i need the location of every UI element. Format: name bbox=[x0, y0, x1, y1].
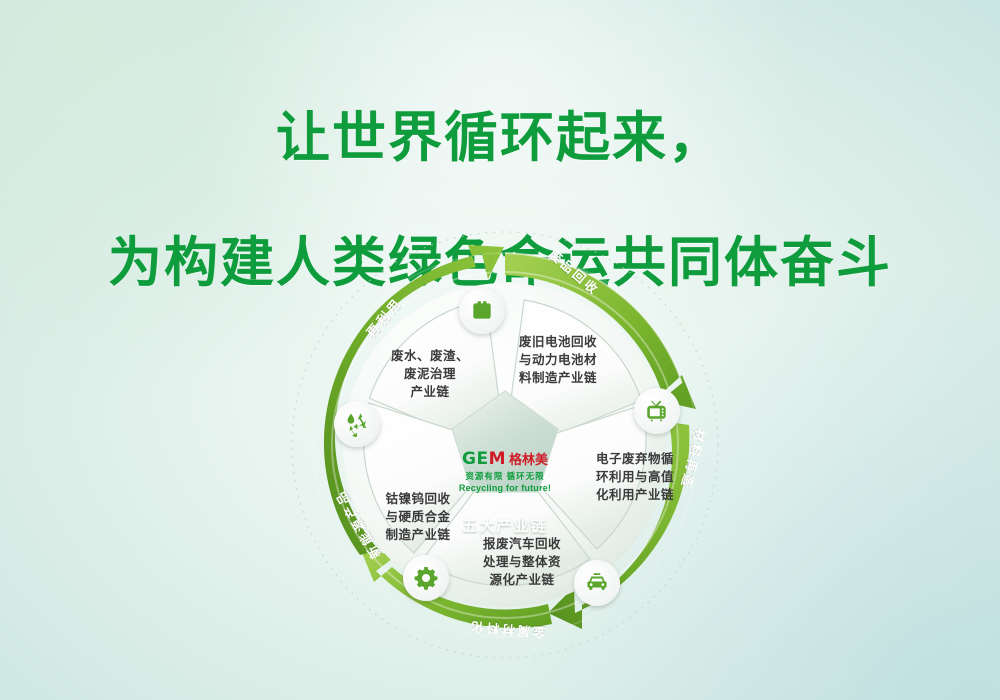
petal-label-battery: 废旧电池回收 与动力电池材 料制造产业链 bbox=[505, 333, 611, 387]
five-industry-chain-diagram: 废品回收 材料再造 金属材料化 新能源产品 再利用 废旧电池回收 与动力电池材 … bbox=[290, 215, 720, 675]
tv-icon-badge bbox=[634, 388, 680, 434]
recycle-drop-icon-badge bbox=[334, 401, 380, 447]
gem-logo: GEM 格林美 资源有限 循环无限 Recycling for future! … bbox=[446, 451, 564, 536]
gear-icon-badge bbox=[403, 555, 449, 601]
petal-label-waste-water-slag-sludge: 废水、废渣、 废泥治理 产业链 bbox=[376, 347, 484, 401]
center-caption: 五大产业链 bbox=[446, 515, 564, 536]
petal-label-end-of-life-vehicle: 报废汽车回收 处理与整体资 源化产业链 bbox=[468, 535, 576, 589]
logo-slogan-en: Recycling for future! bbox=[446, 483, 564, 493]
logo-wordmark-row: GEM 格林美 bbox=[446, 451, 564, 468]
recycle-drop-icon bbox=[344, 411, 370, 437]
logo-latin-mark: GEM bbox=[462, 451, 506, 468]
logo-slogan-cn: 资源有限 循环无限 bbox=[446, 470, 564, 482]
car-icon bbox=[584, 570, 610, 596]
battery-icon bbox=[469, 298, 495, 324]
headline-line-1: 让世界循环起来， bbox=[0, 107, 1000, 170]
petal-label-e-waste: 电子废弃物循 环利用与高值 化利用产业链 bbox=[586, 450, 684, 504]
logo-chinese-mark: 格林美 bbox=[509, 453, 548, 466]
car-icon-badge bbox=[574, 560, 620, 606]
tv-icon bbox=[644, 398, 670, 424]
gear-icon bbox=[413, 565, 439, 591]
battery-icon-badge bbox=[459, 288, 505, 334]
